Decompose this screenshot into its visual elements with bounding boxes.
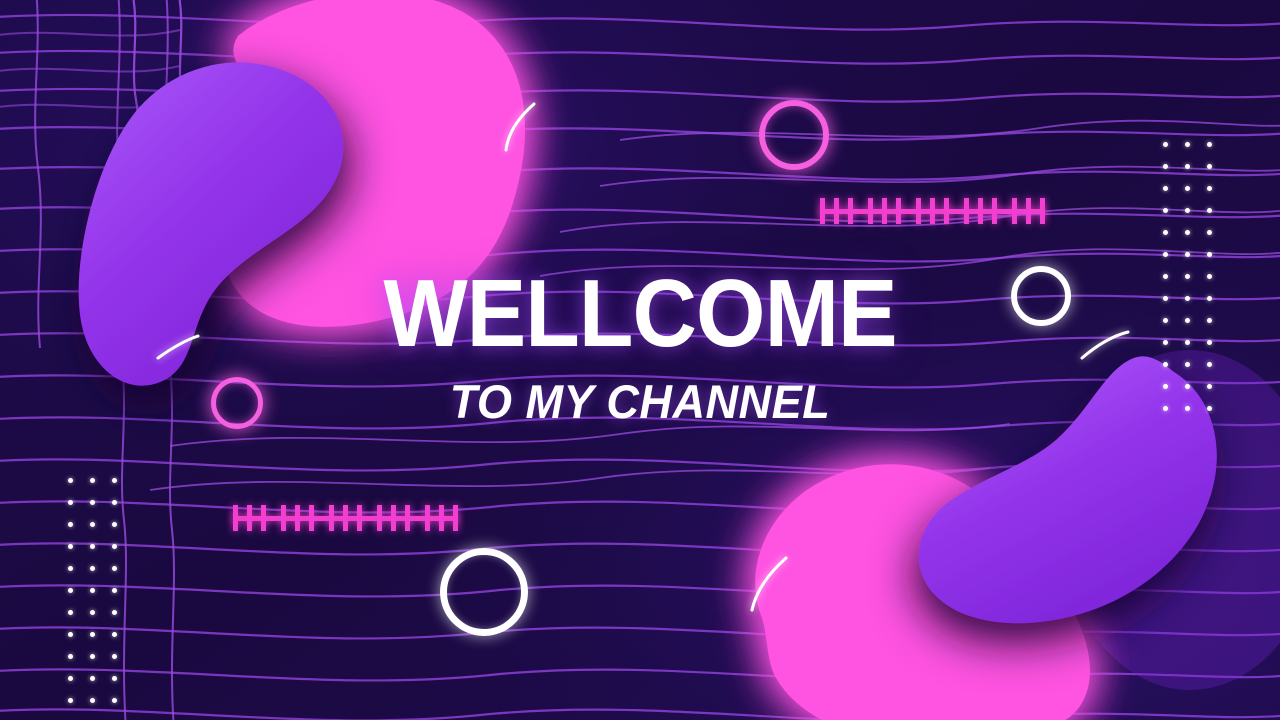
hatch-group [868, 198, 901, 224]
hatch-group [964, 198, 997, 224]
blob-pink-bottom-right [755, 464, 1090, 720]
hatch-group [233, 505, 266, 531]
arc-top-left-a [506, 104, 534, 150]
hatch-group [1012, 198, 1045, 224]
page-title: WELLCOME [45, 268, 1235, 360]
hatch-group [377, 505, 410, 531]
hatch-group [425, 505, 458, 531]
headline-block: WELLCOME TO MY CHANNEL [0, 268, 1280, 425]
hatch-group [281, 505, 314, 531]
ring-white-bottom [440, 548, 528, 636]
hatch-marks-bottom-left [233, 501, 458, 535]
hatch-group [916, 198, 949, 224]
hatch-marks-top-right [820, 194, 1045, 228]
page-subtitle: TO MY CHANNEL [26, 378, 1255, 425]
hatch-group [329, 505, 362, 531]
dot-grid-left [68, 478, 117, 703]
welcome-banner: WELLCOME TO MY CHANNEL [0, 0, 1280, 720]
arc-bottom-center [752, 558, 786, 610]
ring-pink-top-right [759, 100, 829, 170]
hatch-group [820, 198, 853, 224]
